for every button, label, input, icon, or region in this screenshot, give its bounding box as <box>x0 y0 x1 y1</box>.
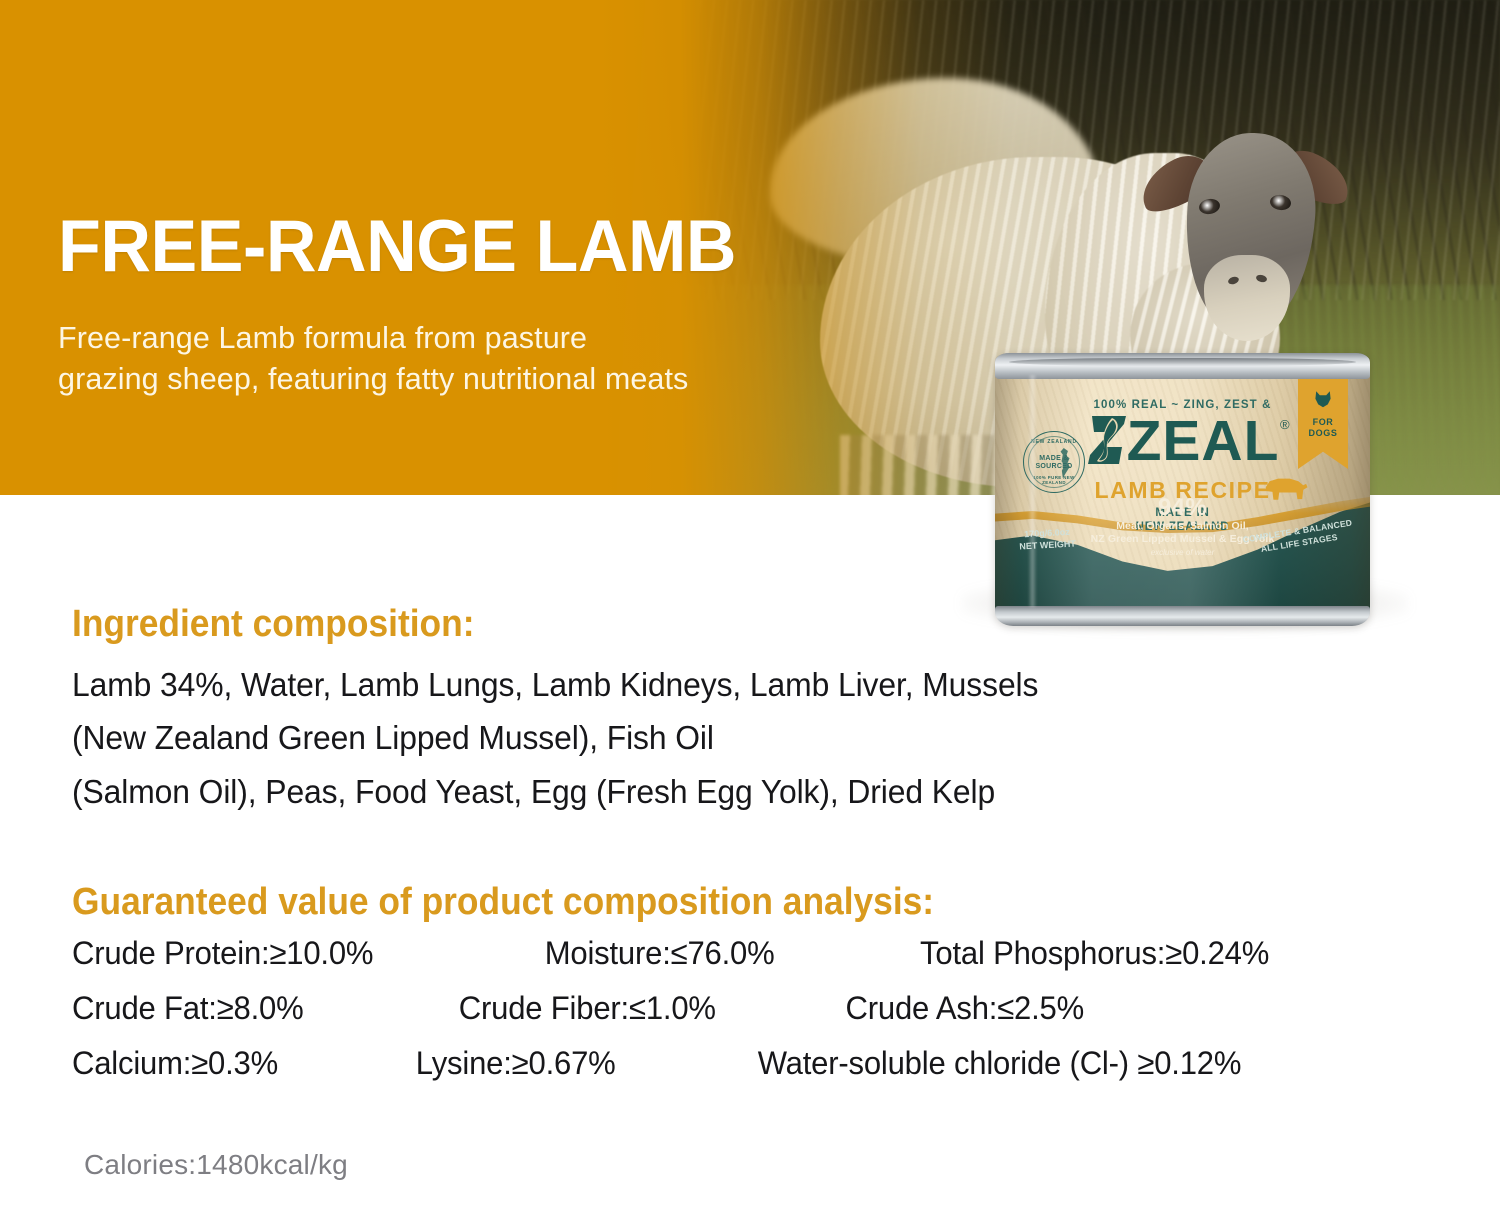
ingredients-line-3: (Salmon Oil), Peas, Food Yeast, Egg (Fre… <box>72 765 1365 818</box>
can-rim <box>995 353 1370 379</box>
brand-text: ZEAL <box>1127 409 1280 473</box>
analysis-cell: Water-soluble chloride (Cl-) ≥0.12% <box>758 1045 1242 1082</box>
registered-trademark-icon: ® <box>1280 417 1290 432</box>
analysis-row: Crude Protein:≥10.0% Moisture:≤76.0% Tot… <box>72 935 1409 990</box>
hero-subtitle-line-1: Free-range Lamb formula from pasture <box>58 318 688 359</box>
analysis-cell: Crude Fiber:≤1.0% <box>459 990 716 1027</box>
hero-subtitle-line-2: grazing sheep, featuring fatty nutrition… <box>58 359 688 400</box>
ingredients-line-1: Lamb 34%, Water, Lamb Lungs, Lamb Kidney… <box>72 658 1365 711</box>
brand-logo: ZEAL <box>995 413 1370 470</box>
can-highlight <box>1028 375 1037 607</box>
analysis-cell: Lysine:≥0.67% <box>416 1045 616 1082</box>
zeal-z-nz-map-icon <box>1086 413 1130 467</box>
analysis-cell: Calcium:≥0.3% <box>72 1045 278 1082</box>
page-title: FREE-RANGE LAMB <box>58 210 736 283</box>
analysis-heading: Guaranteed value of product composition … <box>72 881 934 924</box>
analysis-table: Crude Protein:≥10.0% Moisture:≤76.0% Tot… <box>72 935 1472 1100</box>
can-base <box>995 606 1370 626</box>
can-body: NEW ZEALAND MADE & SOURCED 100% PURE NEW… <box>995 353 1370 626</box>
ingredients-heading: Ingredient composition: <box>72 603 474 646</box>
analysis-cell: Moisture:≤76.0% <box>545 935 775 972</box>
calories-text: Calories:1480kcal/kg <box>84 1149 348 1181</box>
analysis-cell: Crude Protein:≥10.0% <box>72 935 373 972</box>
product-infographic: FREE-RANGE LAMB Free-range Lamb formula … <box>0 0 1500 1205</box>
analysis-cell: Crude Ash:≤2.5% <box>846 990 1084 1027</box>
analysis-row: Calcium:≥0.3% Lysine:≥0.67% Water-solubl… <box>72 1045 1409 1100</box>
analysis-cell: Crude Fat:≥8.0% <box>72 990 304 1027</box>
ingredients-line-2: (New Zealand Green Lipped Mussel), Fish … <box>72 711 1365 764</box>
analysis-cell: Total Phosphorus:≥0.24% <box>920 935 1269 972</box>
can-label: NEW ZEALAND MADE & SOURCED 100% PURE NEW… <box>995 373 1370 611</box>
meat-percentage-note: exclusive of water <box>995 547 1370 559</box>
product-can: NEW ZEALAND MADE & SOURCED 100% PURE NEW… <box>995 353 1370 626</box>
hero-subtitle: Free-range Lamb formula from pasture gra… <box>58 318 688 401</box>
meat-percentage-value: 94% <box>995 496 1370 520</box>
ingredients-text: Lamb 34%, Water, Lamb Lungs, Lamb Kidney… <box>72 658 1365 818</box>
analysis-row: Crude Fat:≥8.0% Crude Fiber:≤1.0% Crude … <box>72 990 1409 1045</box>
